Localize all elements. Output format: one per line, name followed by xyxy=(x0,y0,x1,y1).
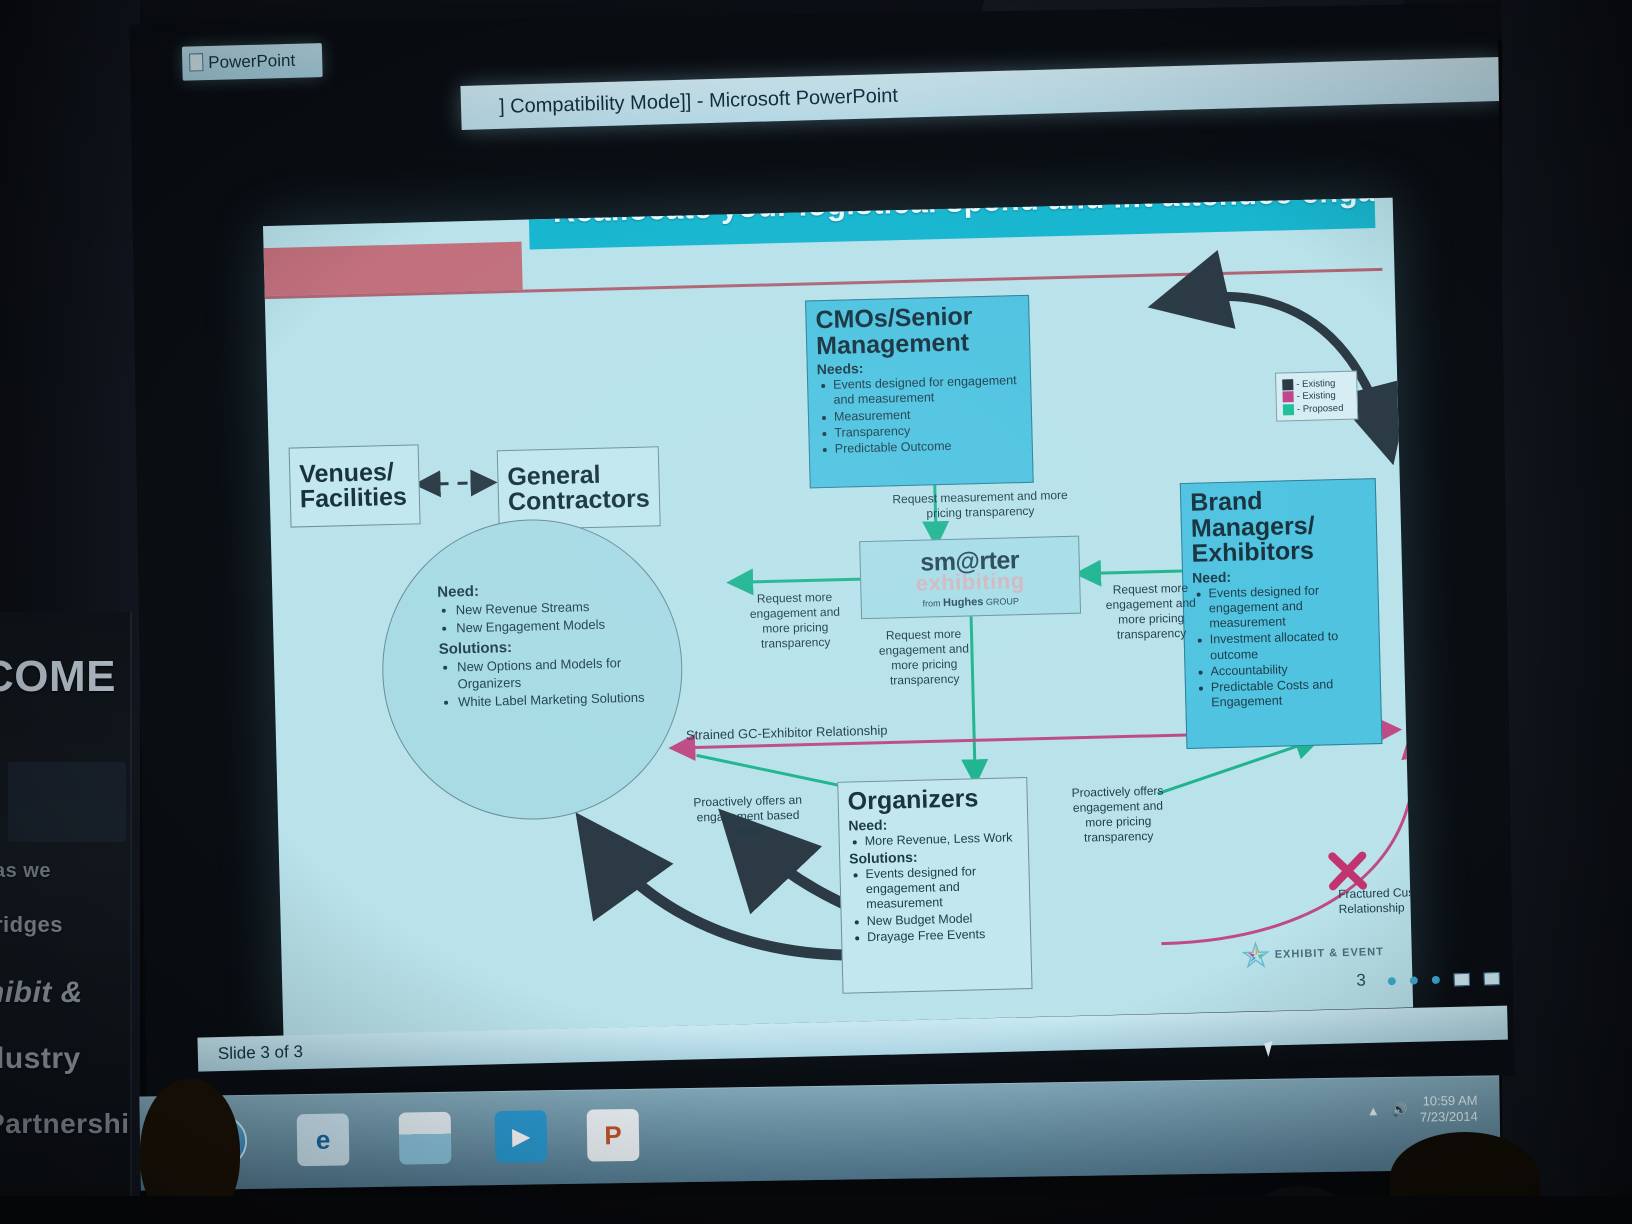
powerpoint-icon xyxy=(189,53,203,71)
tray-clock[interactable]: 10:59 AM 7/23/2014 xyxy=(1420,1093,1478,1126)
legend-row: - Existing xyxy=(1282,377,1350,390)
poster-line-2: ridges xyxy=(0,912,63,938)
clock-time: 10:59 AM xyxy=(1420,1093,1478,1110)
box-organizers[interactable]: Organizers Need: More Revenue, Less Work… xyxy=(837,777,1032,994)
taskbar-button-label: PowerPoint xyxy=(208,51,295,72)
powerpoint-app-icon: P xyxy=(587,1109,640,1162)
view-sorter-icon[interactable] xyxy=(1410,976,1418,984)
list-item: Events designed for engagement and measu… xyxy=(1192,582,1369,632)
tray-volume-icon[interactable]: 🔊 xyxy=(1392,1102,1408,1118)
center-logo-line3: from Hughes GROUP xyxy=(922,595,1019,609)
taskbar-item-powerpoint[interactable]: P xyxy=(580,1104,647,1167)
box-cmos-senior-management[interactable]: CMOs/Senior Management Needs: Events des… xyxy=(805,295,1034,489)
room-photo: COME Partnership as we ridges hibit & du… xyxy=(0,0,1632,1224)
status-slide-count: Slide 3 of 3 xyxy=(218,1042,304,1063)
zoom-slider-icon[interactable] xyxy=(1454,972,1470,985)
wall-right xyxy=(1502,0,1632,1224)
box-organizers-title: Organizers xyxy=(847,785,1018,815)
box-cmos-title: CMOs/Senior Management xyxy=(815,303,1020,359)
list-item: Predictable Costs and Engagement xyxy=(1195,676,1372,711)
box-cmos-list: Events designed for engagement and measu… xyxy=(817,373,1023,457)
tray-network-icon[interactable]: ▲ xyxy=(1367,1103,1380,1118)
box-general-contractors[interactable]: General Contractors xyxy=(497,446,661,530)
fit-slide-icon[interactable] xyxy=(1484,972,1500,985)
box-organizers-solution-list: Events designed for engagement and measu… xyxy=(849,863,1021,946)
starburst-icon xyxy=(1241,941,1270,970)
taskbar-button-powerpoint[interactable]: PowerPoint xyxy=(182,43,323,81)
table-edge xyxy=(0,1196,1632,1224)
legend-swatch-icon xyxy=(1283,404,1294,415)
legend-row: - Proposed xyxy=(1283,402,1351,415)
legend-row: - Existing xyxy=(1282,390,1350,403)
view-normal-icon[interactable] xyxy=(1388,977,1396,985)
list-item: New Options and Models for Organizers xyxy=(439,654,650,693)
legend-swatch-icon xyxy=(1282,391,1293,402)
circle-need-list: New Revenue Streams New Engagement Model… xyxy=(438,598,649,638)
poster-line-1: as we xyxy=(0,860,51,883)
window-title-bar[interactable]: ] Compatibility Mode]] - Microsoft Power… xyxy=(460,57,1501,130)
label-circle-to-organizers: Proactively offers an engagement based m… xyxy=(688,793,809,841)
label-cmo-to-center: Request measurement and more pricing tra… xyxy=(880,488,1081,523)
system-tray[interactable]: ▲ 🔊 10:59 AM 7/23/2014 xyxy=(1367,1093,1478,1127)
label-brand-to-center: Request more engagement and more pricing… xyxy=(1090,580,1211,643)
poster-line-4: dustry xyxy=(0,1042,81,1076)
circle-solution-list: New Options and Models for Organizers Wh… xyxy=(439,654,650,711)
box-venues-facilities[interactable]: Venues/ Facilities xyxy=(289,444,421,527)
window-title-text: ] Compatibility Mode]] - Microsoft Power… xyxy=(499,85,898,118)
list-item: Events designed for engagement and measu… xyxy=(817,373,1022,409)
poster-line-partnership: Partnership xyxy=(0,1108,132,1140)
media-player-icon: ▶ xyxy=(495,1110,548,1163)
box-brand-list: Events designed for engagement and measu… xyxy=(1192,582,1371,711)
list-item: Events designed for engagement and measu… xyxy=(849,863,1020,913)
label-organizers-to-brand: Proactively offers engagement and more p… xyxy=(1057,783,1178,846)
powerpoint-window: PowerPoint ] Compatibility Mode]] - Micr… xyxy=(130,3,1515,1096)
view-reading-icon[interactable] xyxy=(1432,976,1440,984)
label-center-to-circle: Request more engagement and more pricing… xyxy=(734,589,855,652)
poster-welcome-text: COME xyxy=(0,652,116,702)
corner-logo-text: EXHIBIT & EVENT xyxy=(1275,946,1384,961)
windows-taskbar[interactable]: e ▶ P ▲ 🔊 10:59 AM 7/23/2014 xyxy=(139,1075,1500,1190)
list-item: Drayage Free Events xyxy=(851,926,1021,946)
center-logo-smarter-exhibiting: sm@rter exhibiting from Hughes GROUP xyxy=(859,536,1081,620)
legend-label: - Existing xyxy=(1296,378,1335,390)
box-contractors-title-line2: Contractors xyxy=(508,486,651,515)
box-venues-title-line2: Facilities xyxy=(300,485,411,513)
label-fractured-relationship: Fractured Customer Relationship xyxy=(1338,884,1413,917)
slide-canvas[interactable]: Reallocate your logistical spend and lif… xyxy=(263,198,1413,1036)
projection-screen: PowerPoint ] Compatibility Mode]] - Micr… xyxy=(130,3,1515,1096)
legend: - Existing - Existing - Proposed xyxy=(1275,371,1358,422)
legend-label: - Proposed xyxy=(1297,402,1344,414)
poster-image-block xyxy=(8,762,126,842)
folder-icon xyxy=(399,1112,452,1165)
taskbar-item-windows-explorer[interactable] xyxy=(392,1107,459,1170)
list-item: Investment allocated to outcome xyxy=(1194,629,1371,664)
clock-date: 7/23/2014 xyxy=(1420,1109,1478,1126)
legend-label: - Existing xyxy=(1296,390,1335,402)
taskbar-item-media-player[interactable]: ▶ xyxy=(488,1105,555,1168)
internet-explorer-icon: e xyxy=(297,1113,350,1166)
center-logo-line2: exhibiting xyxy=(915,568,1025,597)
label-center-to-organizers: Request more engagement and more pricing… xyxy=(863,626,984,689)
corner-logo: EXHIBIT & EVENT xyxy=(1241,938,1384,970)
box-brand-title: Brand Managers/ Exhibitors xyxy=(1190,486,1368,567)
taskbar-item-internet-explorer[interactable]: e xyxy=(290,1108,357,1171)
poster-line-3: hibit & xyxy=(0,976,83,1010)
slide-view-toolbar[interactable] xyxy=(1299,964,1500,998)
legend-swatch-icon xyxy=(1282,379,1293,390)
welcome-poster: COME Partnership as we ridges hibit & du… xyxy=(0,612,132,1224)
